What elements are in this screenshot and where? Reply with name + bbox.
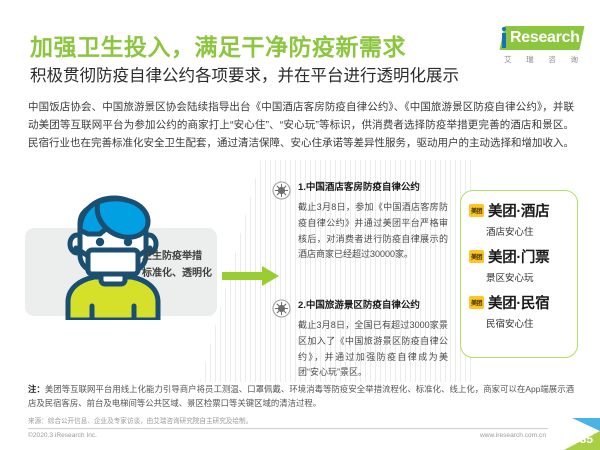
logo-cn-char-4: 询 <box>570 54 578 65</box>
footnote-text: 美团等互联网平台用线上化能力引导商户将员工测温、口罩佩戴、环境消毒等防疫安全举措… <box>28 384 574 408</box>
iresearch-logo: Research 艾 瑞 咨 询 <box>496 26 582 70</box>
logo-cn-char-2: 瑞 <box>526 54 534 65</box>
copyright-line: ©2020.3 iResearch Inc. <box>28 432 97 439</box>
page-subtitle: 积极贯彻防疫自律公约各项要求，并在平台进行透明化展示 <box>30 62 459 86</box>
virus-bullet-icon <box>272 299 291 318</box>
item-1-body: 截止3月8日，参加《中国酒店客房防疫自律公约》并通过美团平台严格审核后，对消费者… <box>298 200 448 263</box>
lead-paragraph: 中国饭店协会、中国旅游景区协会陆续指导出台《中国酒店客房防疫自律公约》、《中国旅… <box>28 98 574 152</box>
meituan-row-ticket: 美团 美团·门票 景区安心玩 <box>461 246 577 284</box>
meituan-brand-bnb: 美团 美团·民宿 <box>469 292 577 313</box>
slide-root: 加强卫生投入，满足干净防疫新需求 积极贯彻防疫自律公约各项要求，并在平台进行透明… <box>0 0 600 450</box>
item-1-heading: 1.中国酒店客房防疫自律公约 <box>298 182 450 194</box>
logo-i-dot-icon <box>502 27 506 31</box>
meituan-sub-ticket: 景区安心玩 <box>469 270 577 284</box>
meituan-name-hotel: 美团·酒店 <box>488 200 549 221</box>
logo-cn-char-3: 咨 <box>548 54 556 65</box>
meituan-brand-ticket: 美团 美团·门票 <box>469 246 577 267</box>
website-url: www.iresearch.com.cn <box>480 432 546 439</box>
meituan-name-bnb: 美团·民宿 <box>488 292 549 313</box>
virus-bullet-icon <box>272 181 291 200</box>
item-2-body: 截止3月8日，全国已有超过3000家景区加入了《中国旅游景区防疫自律公约》，并通… <box>298 318 448 381</box>
item-2-heading: 2.中国旅游景区防疫自律公约 <box>298 300 450 312</box>
logo-chinese-name: 艾 瑞 咨 询 <box>504 54 578 65</box>
meituan-row-hotel: 美团 美团·酒店 酒店安心住 <box>461 200 577 238</box>
illustration-label-line-1: 卫生防疫举措 <box>142 249 212 266</box>
footnote-prefix: 注： <box>28 384 45 394</box>
logo-cn-char-1: 艾 <box>504 54 512 65</box>
meituan-row-bnb: 美团 美团·民宿 民宿安心住 <box>461 292 577 330</box>
logo-mark: Research <box>496 26 582 52</box>
footer-divider <box>28 428 548 429</box>
meituan-brand-panel: 美团 美团·酒店 酒店安心住 美团 美团·门票 景区安心玩 美团 美团·民宿 民… <box>460 190 578 358</box>
footnote: 注：美团等互联网平台用线上化能力引导商户将员工测温、口罩佩戴、环境消毒等防疫安全… <box>28 383 574 410</box>
illustration-label-line-2: 标准化、透明化 <box>142 266 212 283</box>
meituan-name-ticket: 美团·门票 <box>488 246 549 267</box>
source-line: 来源：综合公开信息、企业及专家访谈，由艾瑞咨询研究院自主研究及绘制。 <box>28 415 252 425</box>
meituan-badge-icon: 美团 <box>469 296 484 309</box>
illustration-label: 卫生防疫举措 标准化、透明化 <box>142 249 212 282</box>
meituan-sub-hotel: 酒店安心住 <box>469 224 577 238</box>
meituan-brand-hotel: 美团 美团·酒店 <box>469 200 577 221</box>
corner-decoration <box>554 418 600 450</box>
logo-i-stem-icon <box>502 33 506 48</box>
page-title: 加强卫生投入，满足干净防疫新需求 <box>30 28 406 62</box>
meituan-sub-bnb: 民宿安心住 <box>469 316 577 330</box>
meituan-badge-icon: 美团 <box>469 250 484 263</box>
logo-wordmark: Research <box>510 29 580 47</box>
flow-arrow-icon <box>222 265 280 287</box>
meituan-badge-icon: 美团 <box>469 204 484 217</box>
page-number: 35 <box>580 432 593 446</box>
